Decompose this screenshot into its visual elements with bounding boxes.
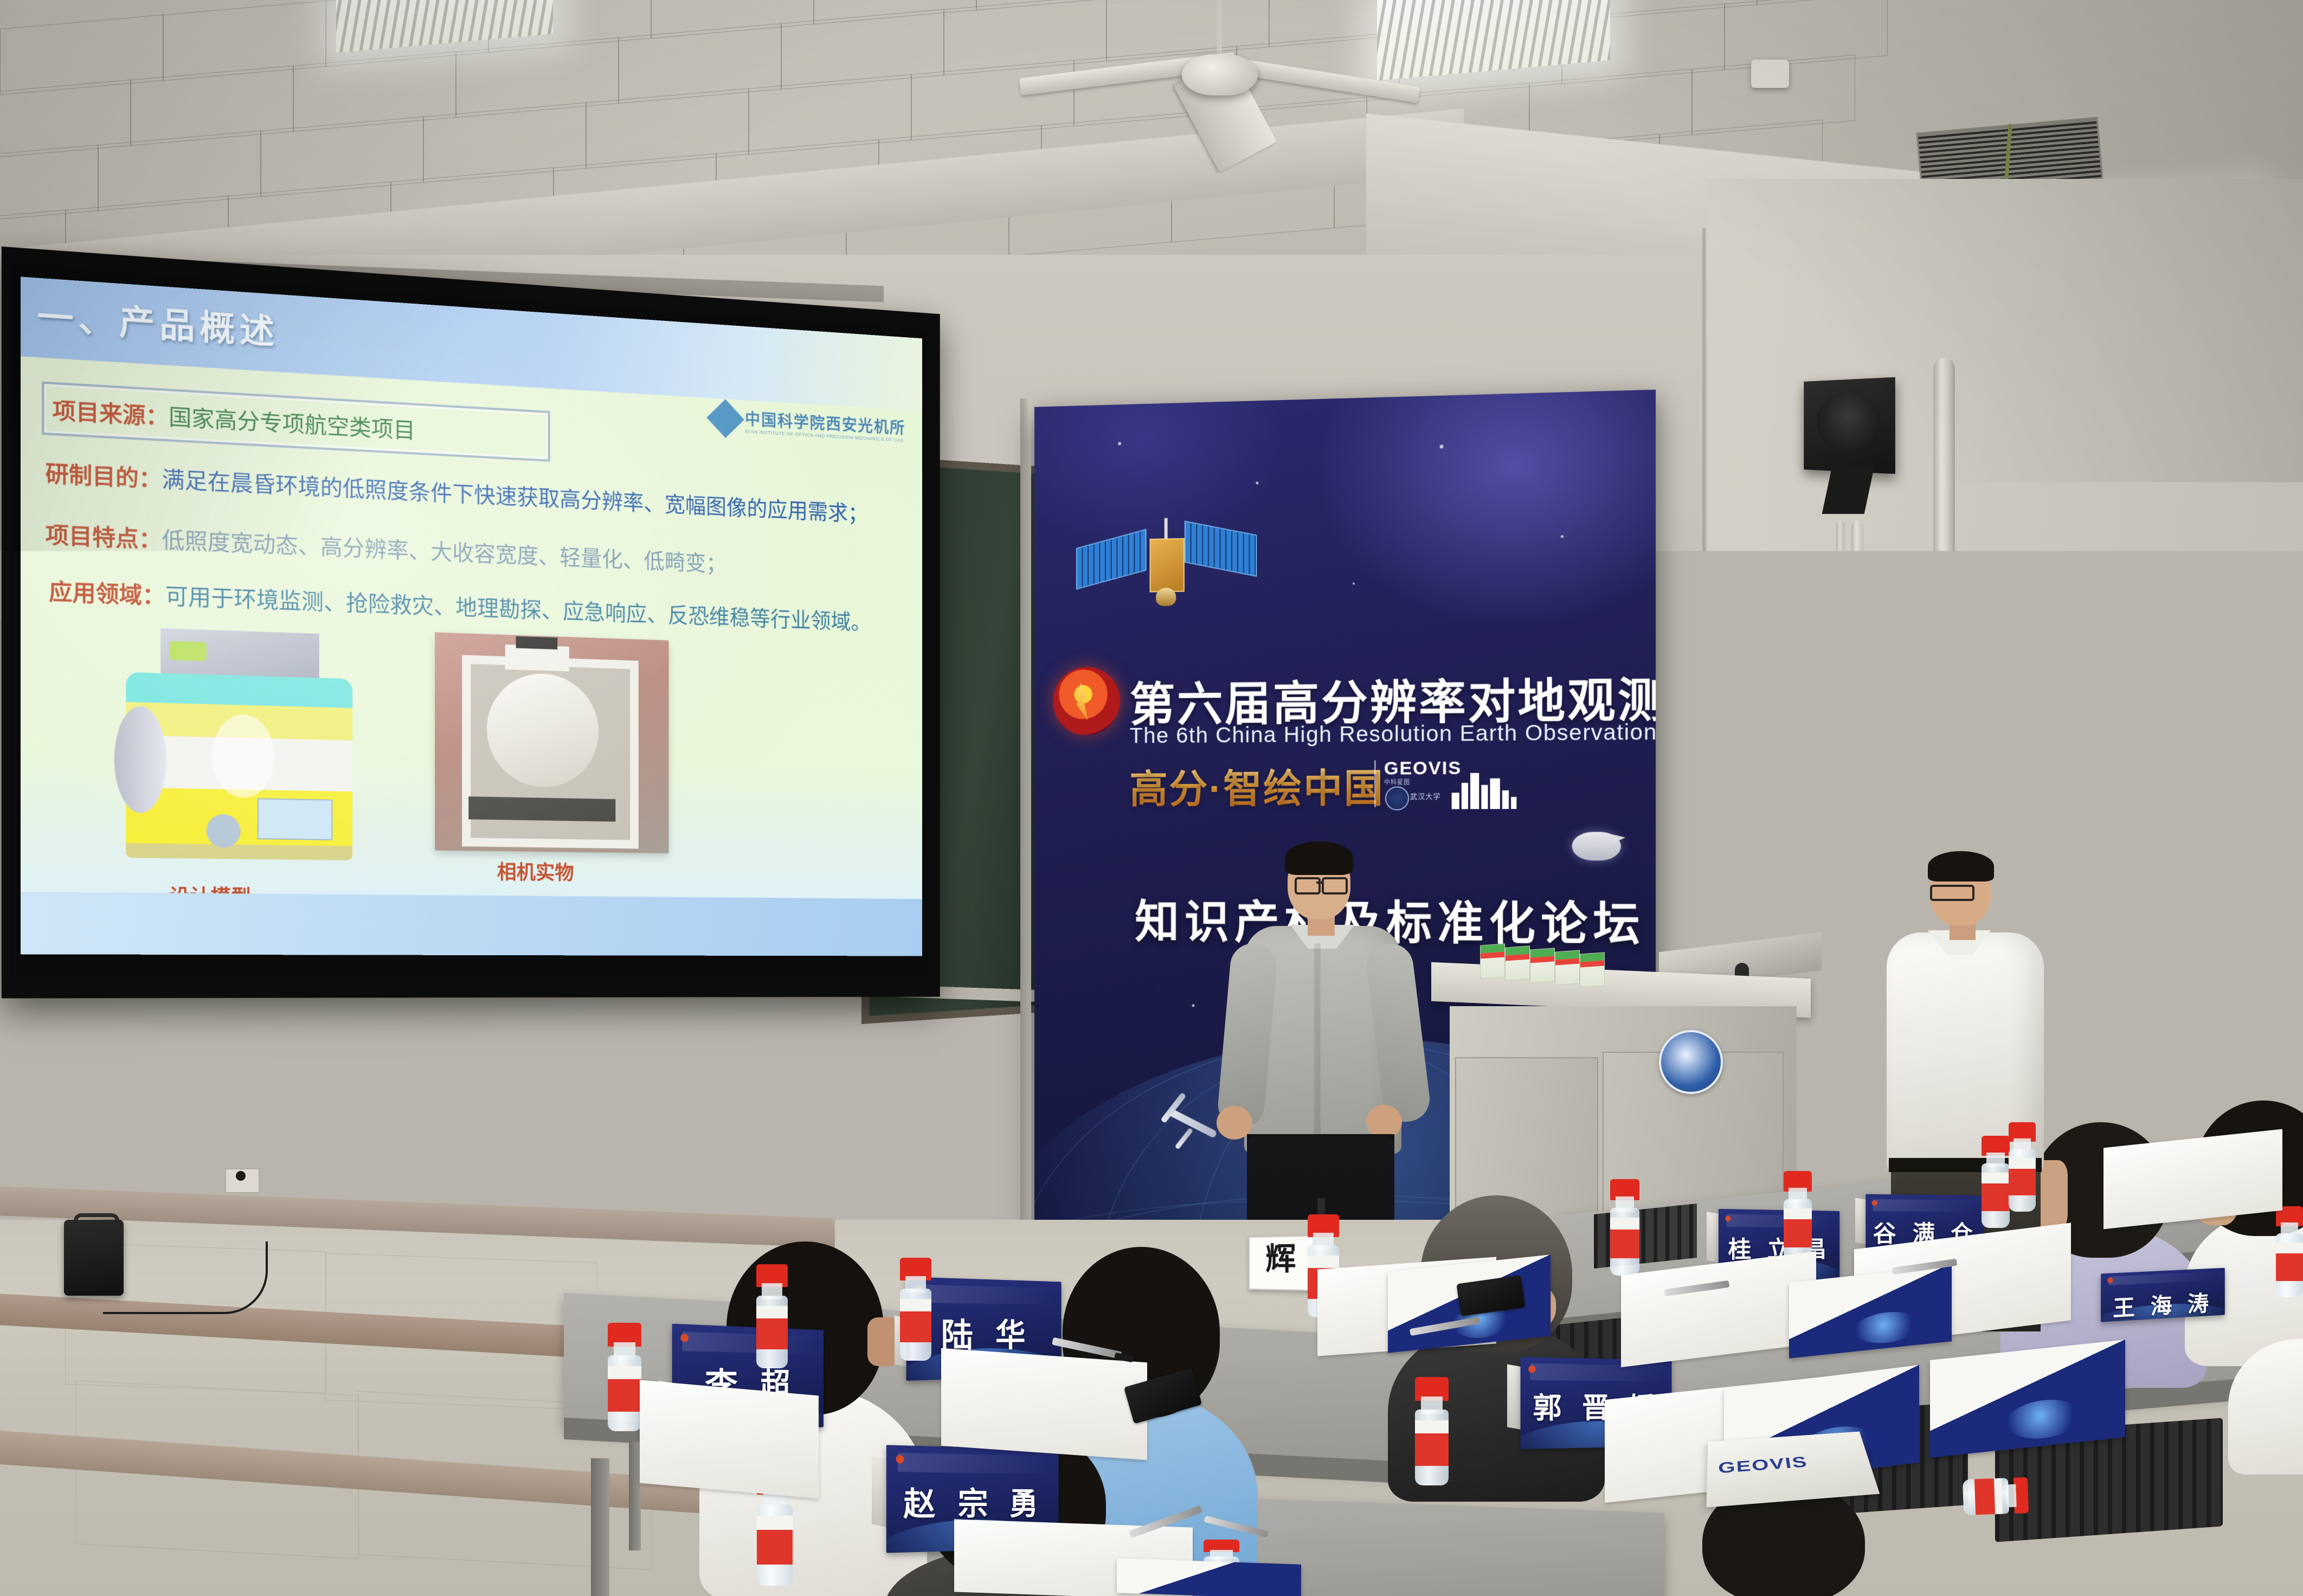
presenter-shirt-placket <box>1314 943 1321 1149</box>
milk-carton[interactable] <box>1505 945 1530 981</box>
banner-left-edge <box>1020 398 1031 1299</box>
slide-figure-camera-photo <box>435 632 668 853</box>
slide-row-1: 研制目的：满足在晨昏环境的低照度条件下快速获取高分辨率、宽幅图像的应用需求； <box>46 455 868 527</box>
water-bottle[interactable] <box>1982 1136 2010 1228</box>
slide-row-3: 应用领域：可用于环境监测、抢险救灾、地理勘探、应急响应、反恐维稳等行业领域。 <box>49 574 871 636</box>
standing-man-hair <box>1928 851 1994 881</box>
water-bottle[interactable] <box>756 1264 788 1368</box>
door-window-pane <box>2235 781 2295 835</box>
airplane-icon <box>1144 1095 1224 1155</box>
slide-row-1-value: 满足在晨昏环境的低照度条件下快速获取高分辨率、宽幅图像的应用需求； <box>162 467 867 526</box>
presenter-glasses-bridge <box>1316 881 1323 884</box>
screenshot-root: ACCUSCREEN LASER RADIATION AVOID EXPOSUR… <box>0 0 2303 1596</box>
conference-emblem-icon <box>1053 667 1121 736</box>
table-leg <box>591 1458 609 1596</box>
handwritten-name-card: 辉 <box>1249 1235 1314 1291</box>
satellite-body <box>1150 538 1185 593</box>
geovis-folder-brand: GEOVIS <box>1718 1454 1809 1477</box>
power-cable <box>103 1241 268 1314</box>
printed-handout[interactable] <box>941 1348 1147 1460</box>
nameplate-wang-haitao: 王 海 涛 <box>2101 1268 2225 1322</box>
water-bottle[interactable] <box>2276 1206 2303 1297</box>
electrical-box-icon[interactable] <box>1681 783 1768 851</box>
slide-row-1-label: 研制目的： <box>46 461 162 492</box>
slide-row-2-value: 低照度宽动态、高分辨率、大收容宽度、轻量化、低畸变； <box>162 528 726 576</box>
slide-row-2-label: 项目特点： <box>46 523 162 552</box>
milk-carton[interactable] <box>1555 950 1580 985</box>
water-bottle[interactable] <box>2009 1122 2036 1212</box>
satellite-mast <box>1165 518 1168 541</box>
slide-footer-band <box>21 892 922 956</box>
sponsor-brand-sub: 中科星图 <box>1384 777 1410 786</box>
presentation-slide: 一、产品概述 中国科学院西安光机所 XI'AN INSTITUTE OF OPT… <box>21 276 922 956</box>
water-bottle[interactable] <box>1610 1179 1639 1276</box>
satellite-illustration <box>1076 509 1256 625</box>
worker-mascot-icon <box>1776 787 1794 826</box>
water-bottle-lying[interactable] <box>1963 1477 2029 1515</box>
solar-panel <box>1076 529 1147 589</box>
presenter-glasses-icon <box>1295 877 1321 894</box>
slide-figure-caption-1: 相机实物 <box>497 857 574 885</box>
milk-carton[interactable] <box>1580 952 1605 987</box>
slide-row-2: 项目特点：低照度宽动态、高分辨率、大收容宽度、轻量化、低畸变； <box>46 517 726 578</box>
handwritten-name-card-text: 辉 <box>1250 1243 1313 1275</box>
banner-title-en: The 6th China High Resolution Earth Obse… <box>1130 718 1656 748</box>
presenter-hand-right <box>1366 1105 1402 1138</box>
sponsor-university: 武汉大学 <box>1410 790 1440 801</box>
slide-row-3-value: 可用于环境监测、抢险救灾、地理勘探、应急响应、反恐维稳等行业领域。 <box>165 584 871 635</box>
printed-handout[interactable] <box>640 1380 819 1499</box>
podium-seal-icon <box>1659 1030 1723 1094</box>
wall-speaker-icon <box>1804 377 1895 474</box>
presenter-glasses-icon <box>1322 877 1348 894</box>
banner-divider <box>1374 761 1376 807</box>
table-leg <box>629 1442 641 1550</box>
wall-conduit <box>1851 520 1863 1068</box>
slide-row-0-label: 项目来源： <box>53 398 169 430</box>
pipe-clamp <box>1922 629 1967 642</box>
power-plug-icon[interactable] <box>236 1171 246 1181</box>
slide-figure-design-model <box>114 627 375 866</box>
banner-slogan: 高分·智绘中国 <box>1130 756 1385 814</box>
solar-panel <box>1185 520 1257 577</box>
water-bottle[interactable] <box>1415 1377 1449 1485</box>
chair-back[interactable] <box>1594 1204 1697 1269</box>
ebox-latch[interactable] <box>1746 818 1755 826</box>
standing-man-glasses-icon <box>1930 885 1974 901</box>
conference-booklet[interactable] <box>1930 1340 2125 1458</box>
speaker-cone <box>1817 391 1880 452</box>
skyline-graphic <box>1450 766 1521 809</box>
nameplate-label: 赵 宗 勇 <box>886 1477 1059 1525</box>
milk-carton[interactable] <box>1480 943 1505 979</box>
water-bottle[interactable] <box>900 1258 931 1361</box>
milk-carton[interactable] <box>1530 948 1555 983</box>
floor-amplifier-icon[interactable] <box>64 1220 124 1296</box>
conference-booklet[interactable] <box>1117 1558 1301 1596</box>
smoke-detector-icon <box>1751 60 1789 88</box>
wall-conduit <box>1836 520 1845 1068</box>
satellite-lens <box>1156 588 1176 606</box>
water-bottle[interactable] <box>608 1323 641 1431</box>
institute-logo: 中国科学院西安光机所 XI'AN INSTITUTE OF OPTICS AND… <box>712 403 905 443</box>
door-lock-plate[interactable] <box>2255 839 2269 874</box>
fan-rod <box>1217 0 1222 57</box>
ceiling-fan-icon <box>1182 54 1258 95</box>
slide-row-3-label: 应用领域： <box>49 580 165 609</box>
presenter-hair <box>1285 841 1353 875</box>
water-bottle[interactable] <box>1784 1171 1812 1264</box>
institute-logo-mark <box>706 399 744 438</box>
university-seal-icon <box>1385 787 1409 810</box>
